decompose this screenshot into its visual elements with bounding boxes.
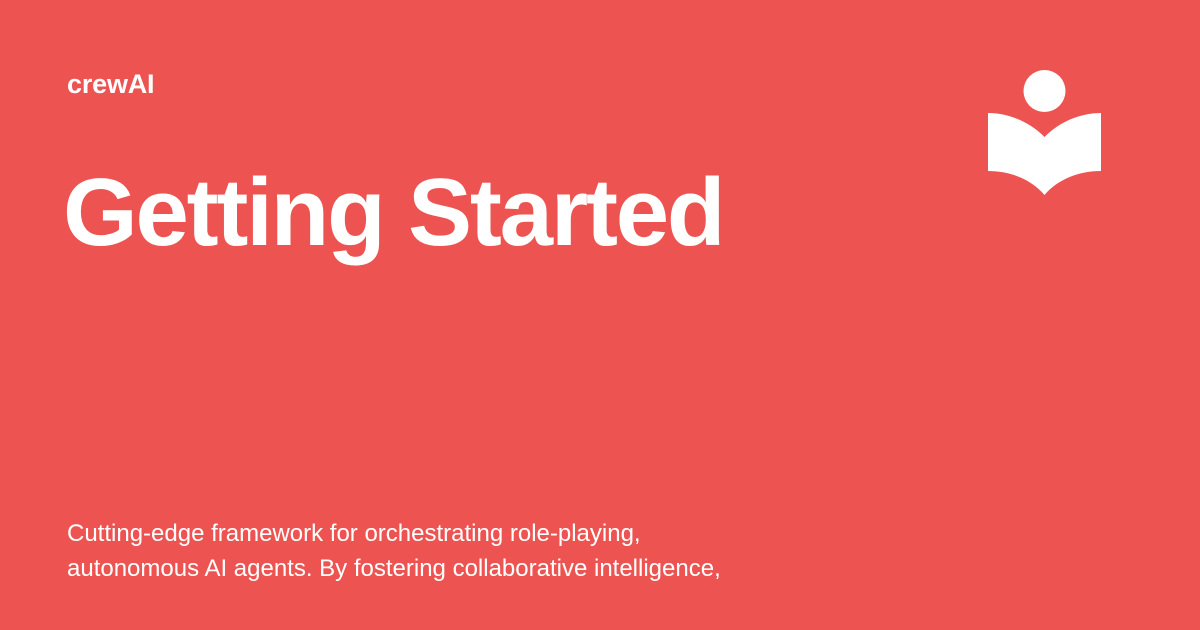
brand-logo-text: crewAI xyxy=(67,71,154,98)
open-book-reader-icon xyxy=(985,66,1105,198)
description-line-1: Cutting-edge framework for orchestrating… xyxy=(67,516,887,551)
og-preview-card: crewAI Getting Started Cutting-edge fram… xyxy=(0,0,1200,630)
description-text: Cutting-edge framework for orchestrating… xyxy=(67,516,887,586)
page-title: Getting Started xyxy=(63,165,723,261)
description-line-2: autonomous AI agents. By fostering colla… xyxy=(67,551,887,586)
